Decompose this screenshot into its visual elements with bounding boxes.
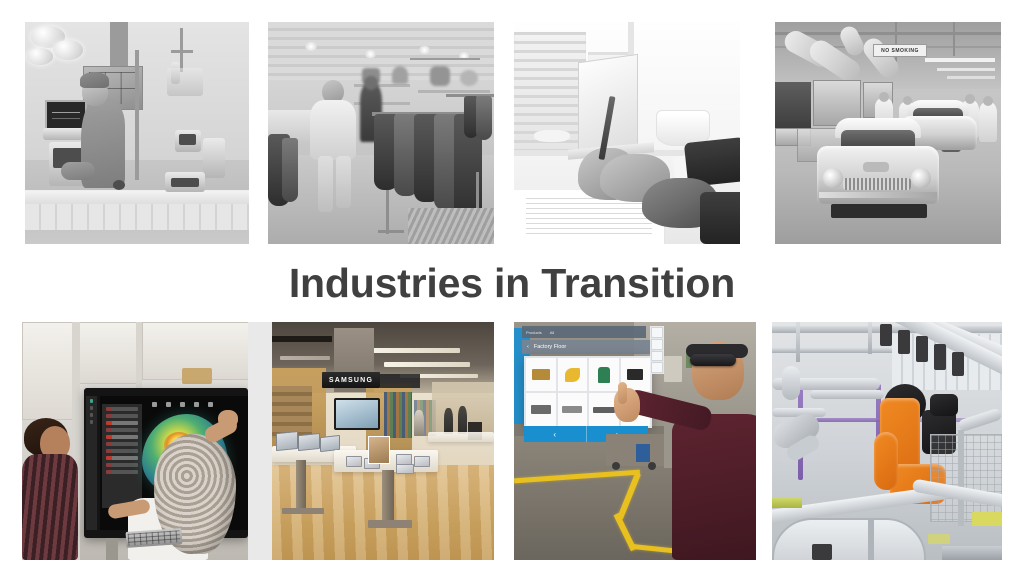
photo-manufacturing-assembly-line: NO SMOKING bbox=[775, 22, 1001, 244]
photo-mixed-reality-factory-floor: Products All ‹ Factory Floor bbox=[514, 322, 756, 560]
hologram-side-button-3[interactable] bbox=[651, 351, 663, 362]
hologram-thumb-forklift[interactable] bbox=[526, 358, 556, 391]
photo-retail-clothing-store bbox=[268, 22, 494, 244]
slide-title-band: Industries in Transition bbox=[0, 248, 1024, 318]
hologram-thumb-office-chair[interactable] bbox=[589, 358, 619, 391]
photo-finance-desk-writing bbox=[514, 22, 740, 244]
chevron-left-icon[interactable]: ‹ bbox=[527, 344, 529, 350]
no-smoking-sign: NO SMOKING bbox=[873, 44, 927, 57]
hologram-side-button-1[interactable] bbox=[651, 327, 663, 338]
hologram-thumb-robot-arm[interactable] bbox=[558, 358, 588, 391]
hologram-app-bar-label: Products bbox=[526, 330, 542, 335]
hologram-prev-page-button[interactable]: ‹ bbox=[524, 426, 587, 442]
hologram-side-toolbar[interactable] bbox=[650, 326, 664, 374]
hologram-side-button-2[interactable] bbox=[651, 339, 663, 350]
hologram-thumb-work-table[interactable] bbox=[526, 393, 556, 426]
slide-title: Industries in Transition bbox=[289, 260, 735, 307]
photo-healthcare-digital-collaboration bbox=[22, 322, 248, 560]
hologram-app-bar[interactable]: Products All bbox=[522, 326, 646, 338]
photo-manufacturing-robotics bbox=[772, 322, 1002, 560]
hologram-panel-title-bar: ‹ Factory Floor bbox=[522, 340, 655, 354]
slide-canvas: NO SMOKING bbox=[0, 0, 1024, 576]
photo-retail-modern-store: SAMSUNG bbox=[272, 322, 494, 560]
hologram-side-button-4[interactable] bbox=[651, 362, 663, 373]
hologram-app-bar-secondary: All bbox=[550, 330, 554, 335]
photo-healthcare-operating-room bbox=[25, 22, 249, 244]
samsung-store-sign: SAMSUNG bbox=[322, 372, 380, 388]
hologram-thumb-workbench[interactable] bbox=[558, 393, 588, 426]
bottom-row-separator-band bbox=[248, 322, 272, 560]
hologram-panel-title: Factory Floor bbox=[534, 344, 566, 350]
